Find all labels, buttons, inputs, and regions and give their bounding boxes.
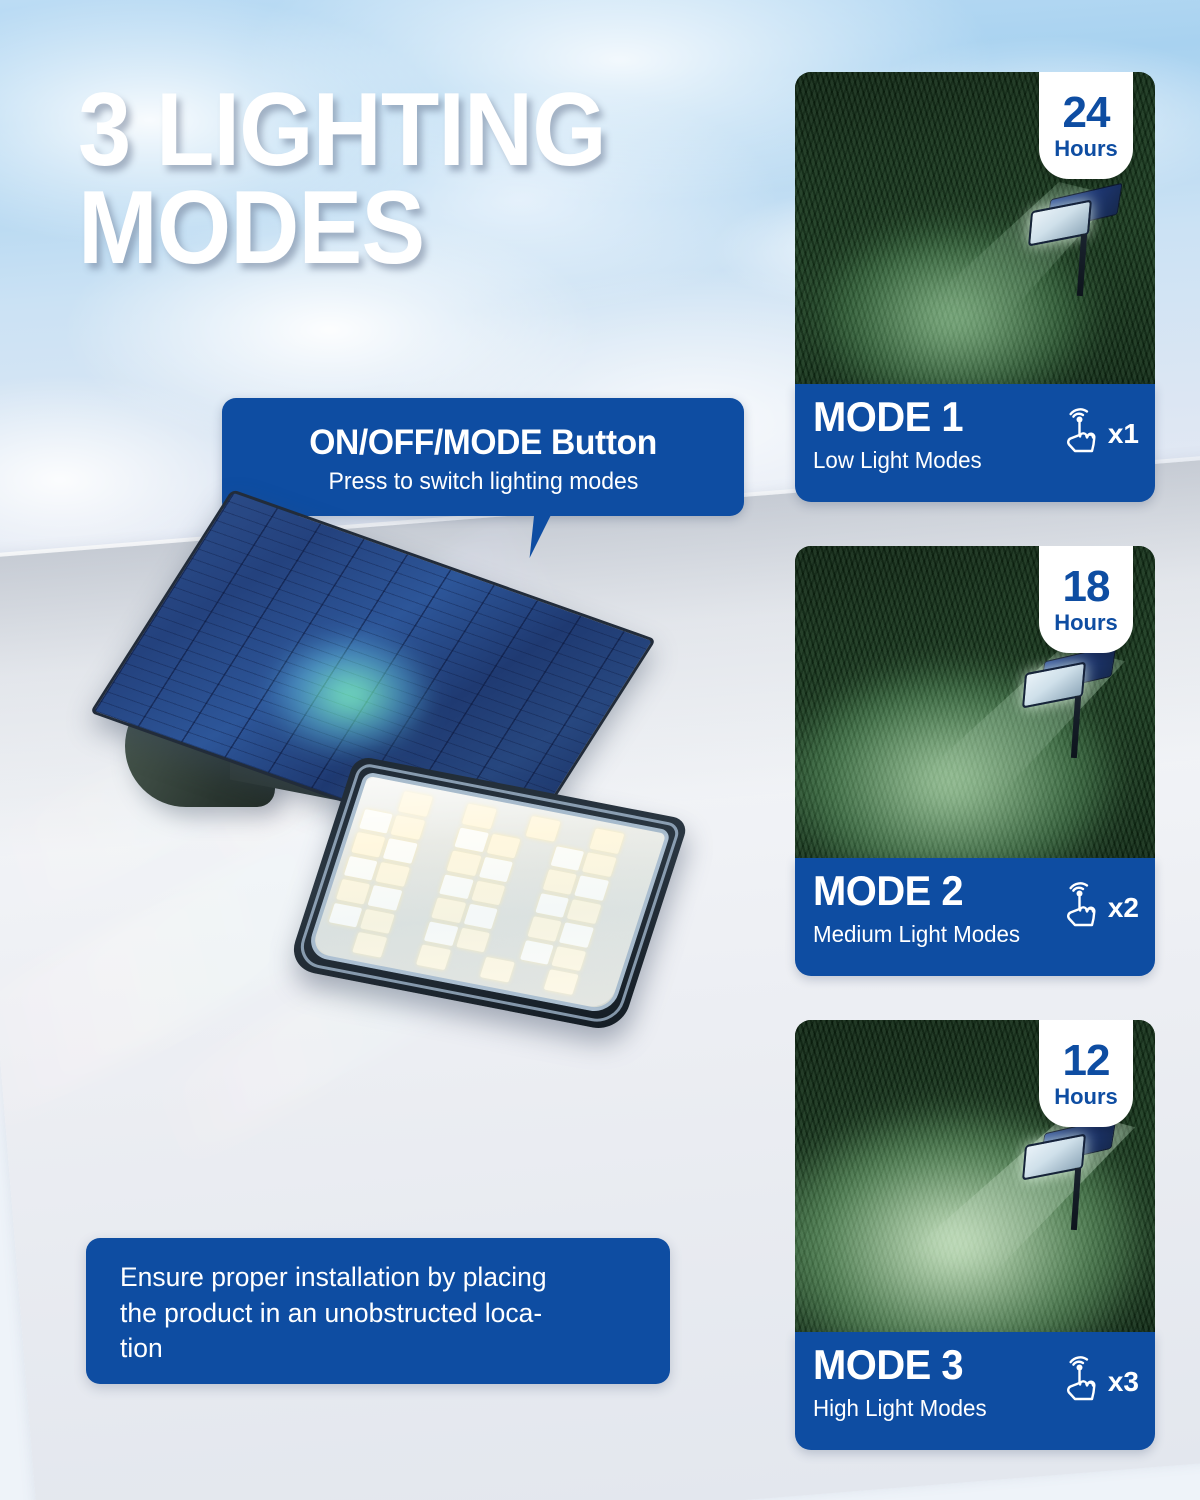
mode-button-callout: ON/OFF/MODE Button Press to switch light… bbox=[222, 398, 744, 516]
mode-card[interactable]: 24 Hours MODE 1 Low Light Modes bbox=[795, 72, 1155, 502]
mode-card[interactable]: 12 Hours MODE 3 High Light Modes bbox=[795, 1020, 1155, 1450]
led-head bbox=[287, 755, 690, 1033]
installation-note-box: Ensure proper installation by placing th… bbox=[86, 1238, 670, 1384]
lamp-ground-stake bbox=[1071, 696, 1081, 758]
page-title-line-1: 3 LIGHTING bbox=[78, 82, 667, 180]
product-solar-wall-light bbox=[120, 545, 700, 1045]
hours-badge: 24 Hours bbox=[1039, 72, 1133, 179]
tap-hand-icon bbox=[1059, 876, 1105, 928]
tap-count: x3 bbox=[1108, 1368, 1139, 1402]
tap-hand-icon bbox=[1059, 402, 1105, 454]
solar-lamp-figure bbox=[1021, 1124, 1117, 1232]
hours-unit: Hours bbox=[1054, 1086, 1118, 1108]
callout-title: ON/OFF/MODE Button bbox=[309, 423, 657, 463]
callout-subtitle: Press to switch lighting modes bbox=[328, 468, 638, 496]
solar-lamp-figure bbox=[1021, 652, 1117, 760]
mode-card[interactable]: 18 Hours MODE 2 Medium Light Modes bbox=[795, 546, 1155, 976]
lamp-ground-stake bbox=[1077, 234, 1087, 296]
page-title-line-2: MODES bbox=[78, 180, 667, 278]
hours-value: 12 bbox=[1063, 1039, 1110, 1083]
mode-label-bar: MODE 3 High Light Modes x3 bbox=[795, 1332, 1155, 1450]
solar-lamp-figure bbox=[1027, 190, 1123, 298]
lamp-ground-stake bbox=[1071, 1168, 1081, 1230]
tap-hand-icon bbox=[1059, 1350, 1105, 1402]
tap-count: x2 bbox=[1108, 894, 1139, 928]
mode-label-bar: MODE 1 Low Light Modes x1 bbox=[795, 384, 1155, 502]
tap-count: x1 bbox=[1108, 420, 1139, 454]
tap-indicator: x1 bbox=[1059, 402, 1139, 454]
hours-unit: Hours bbox=[1054, 138, 1118, 160]
mode-photo: 12 Hours bbox=[795, 1020, 1155, 1332]
mode-cards-list: 24 Hours MODE 1 Low Light Modes bbox=[795, 72, 1155, 1494]
hours-value: 24 bbox=[1063, 91, 1110, 135]
installation-note-text: Ensure proper installation by placing th… bbox=[120, 1260, 630, 1367]
hours-badge: 12 Hours bbox=[1039, 1020, 1133, 1127]
mode-photo: 18 Hours bbox=[795, 546, 1155, 858]
tap-indicator: x2 bbox=[1059, 876, 1139, 928]
mode-label-bar: MODE 2 Medium Light Modes x2 bbox=[795, 858, 1155, 976]
hours-value: 18 bbox=[1063, 565, 1110, 609]
page-title: 3 LIGHTING MODES bbox=[78, 82, 667, 278]
hours-unit: Hours bbox=[1054, 612, 1118, 634]
mode-photo: 24 Hours bbox=[795, 72, 1155, 384]
tap-indicator: x3 bbox=[1059, 1350, 1139, 1402]
hours-badge: 18 Hours bbox=[1039, 546, 1133, 653]
